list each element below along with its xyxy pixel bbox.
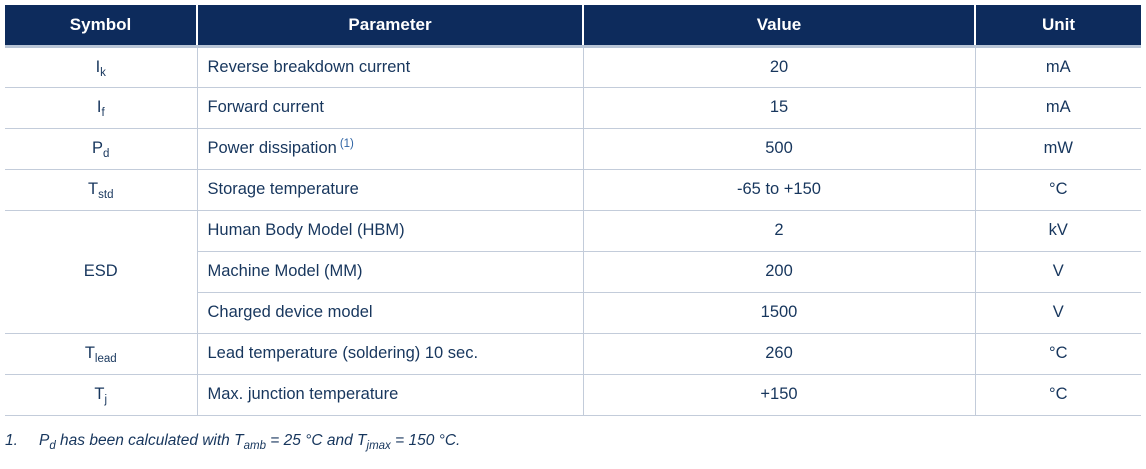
- footnotes-section: 1. Pd has been calculated with Tamb = 25…: [5, 432, 1141, 450]
- cell-parameter: Storage temperature: [197, 169, 583, 210]
- cell-value: 260: [583, 333, 975, 374]
- cell-symbol: Ik: [5, 46, 197, 87]
- cell-unit: V: [975, 292, 1141, 333]
- column-header-symbol: Symbol: [5, 5, 197, 46]
- parameter-text: Lead temperature (soldering) 10 sec.: [208, 344, 479, 362]
- symbol-subscript: lead: [95, 353, 117, 365]
- specs-table: Symbol Parameter Value Unit Ik Reverse b…: [5, 5, 1141, 416]
- symbol-subscript: f: [101, 107, 104, 119]
- cell-value: 20: [583, 46, 975, 87]
- parameter-text: Reverse breakdown current: [208, 58, 411, 76]
- symbol-subscript: k: [100, 67, 106, 79]
- cell-value: -65 to +150: [583, 169, 975, 210]
- symbol-subscript: std: [98, 189, 113, 201]
- cell-unit: °C: [975, 333, 1141, 374]
- cell-parameter: Reverse breakdown current: [197, 46, 583, 87]
- symbol-subscript: d: [103, 148, 109, 160]
- header-row: Symbol Parameter Value Unit: [5, 5, 1141, 46]
- parameter-text: Power dissipation: [208, 139, 337, 157]
- cell-parameter: Machine Model (MM): [197, 251, 583, 292]
- cell-unit: °C: [975, 169, 1141, 210]
- table-row: Tj Max. junction temperature +150 °C: [5, 374, 1141, 415]
- cell-symbol: Tstd: [5, 169, 197, 210]
- cell-unit: V: [975, 251, 1141, 292]
- column-header-unit: Unit: [975, 5, 1141, 46]
- footnote-symbol-p: P: [39, 432, 49, 449]
- cell-unit: mA: [975, 87, 1141, 128]
- footnote-subscript-d: d: [49, 440, 55, 452]
- parameter-text: Human Body Model (HBM): [208, 221, 405, 239]
- parameter-text: Charged device model: [208, 303, 373, 321]
- footnote-subscript-amb: amb: [244, 440, 266, 452]
- table-row: Tstd Storage temperature -65 to +150 °C: [5, 169, 1141, 210]
- footnote-text-part2: has been calculated with: [56, 432, 234, 449]
- cell-value: 1500: [583, 292, 975, 333]
- parameter-text: Machine Model (MM): [208, 262, 363, 280]
- cell-unit: °C: [975, 374, 1141, 415]
- symbol-base: T: [94, 385, 104, 403]
- footnote-number: 1.: [5, 432, 39, 450]
- cell-parameter: Max. junction temperature: [197, 374, 583, 415]
- symbol-subscript: j: [105, 394, 108, 406]
- cell-parameter: Forward current: [197, 87, 583, 128]
- table-row: Ik Reverse breakdown current 20 mA: [5, 46, 1141, 87]
- parameter-text: Storage temperature: [208, 180, 359, 198]
- cell-value: 500: [583, 128, 975, 169]
- table-row: ESD Human Body Model (HBM) 2 kV: [5, 210, 1141, 251]
- symbol-base: T: [85, 344, 95, 362]
- column-header-value: Value: [583, 5, 975, 46]
- cell-symbol: If: [5, 87, 197, 128]
- footnote-reference: (1): [340, 138, 354, 150]
- footnote-subscript-jmax: jmax: [367, 440, 391, 452]
- footnote-symbol-t-amb: T: [234, 432, 243, 449]
- cell-unit: kV: [975, 210, 1141, 251]
- cell-symbol-esd-merged: ESD: [5, 210, 197, 333]
- footnote-item: 1. Pd has been calculated with Tamb = 25…: [5, 432, 1141, 450]
- cell-value: +150: [583, 374, 975, 415]
- parameter-text: Max. junction temperature: [208, 385, 399, 403]
- cell-unit: mA: [975, 46, 1141, 87]
- cell-parameter: Lead temperature (soldering) 10 sec.: [197, 333, 583, 374]
- cell-parameter: Human Body Model (HBM): [197, 210, 583, 251]
- cell-value: 15: [583, 87, 975, 128]
- footnote-text-part4: = 150 °C.: [391, 432, 461, 449]
- cell-unit: mW: [975, 128, 1141, 169]
- table-body: Ik Reverse breakdown current 20 mA If Fo…: [5, 46, 1141, 415]
- cell-symbol: Tj: [5, 374, 197, 415]
- cell-symbol: Pd: [5, 128, 197, 169]
- symbol-base: T: [88, 180, 98, 198]
- cell-parameter: Power dissipation(1): [197, 128, 583, 169]
- table-row: Pd Power dissipation(1) 500 mW: [5, 128, 1141, 169]
- column-header-parameter: Parameter: [197, 5, 583, 46]
- table-header: Symbol Parameter Value Unit: [5, 5, 1141, 46]
- footnote-text-part3: = 25 °C and: [266, 432, 357, 449]
- table-row: Tlead Lead temperature (soldering) 10 se…: [5, 333, 1141, 374]
- specs-table-container: Symbol Parameter Value Unit Ik Reverse b…: [5, 5, 1141, 416]
- parameter-text: Forward current: [208, 98, 324, 116]
- cell-value: 2: [583, 210, 975, 251]
- datasheet-absolute-maximum-ratings-table: Symbol Parameter Value Unit Ik Reverse b…: [0, 0, 1146, 469]
- table-row: If Forward current 15 mA: [5, 87, 1141, 128]
- cell-symbol: Tlead: [5, 333, 197, 374]
- cell-value: 200: [583, 251, 975, 292]
- cell-parameter: Charged device model: [197, 292, 583, 333]
- footnote-symbol-t-jmax: T: [357, 432, 366, 449]
- footnote-text: Pd has been calculated with Tamb = 25 °C…: [39, 432, 460, 450]
- symbol-base: P: [92, 139, 103, 157]
